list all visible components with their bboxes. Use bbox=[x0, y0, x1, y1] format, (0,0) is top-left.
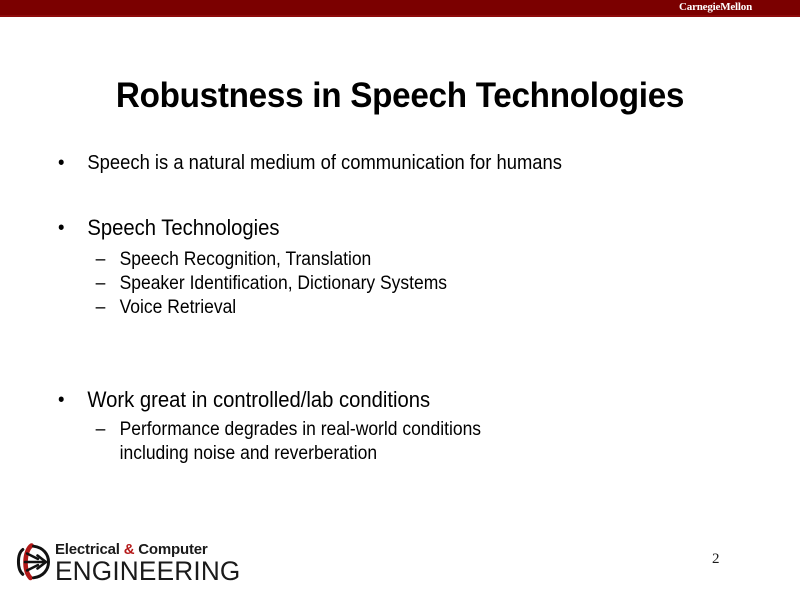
dash-marker-icon: – bbox=[96, 272, 106, 296]
dash-marker-icon: – bbox=[96, 248, 106, 272]
sub-bullet-item-4: – Performance degrades in real-world con… bbox=[0, 418, 736, 466]
bullet-item-2: • Speech Technologies bbox=[0, 214, 736, 242]
bullet-text: Work great in controlled/lab conditions bbox=[87, 387, 430, 412]
bullet-marker-icon: • bbox=[58, 214, 64, 242]
bullet-item-3: • Work great in controlled/lab condition… bbox=[0, 386, 736, 414]
sub-bullet-item-3: – Voice Retrieval bbox=[0, 296, 736, 320]
sub-bullet-text: Speech Recognition, Translation bbox=[120, 249, 372, 270]
ece-logo-text: Electrical & Computer ENGINEERING bbox=[55, 542, 235, 585]
sub-bullet-text-line2: including noise and reverberation bbox=[120, 442, 736, 466]
page-number: 2 bbox=[712, 550, 720, 568]
bullet-marker-icon: • bbox=[58, 386, 64, 414]
bullet-marker-icon: • bbox=[58, 150, 64, 176]
dash-marker-icon: – bbox=[96, 418, 106, 442]
sub-bullet-text: Speaker Identification, Dictionary Syste… bbox=[120, 273, 447, 294]
spacer bbox=[0, 320, 800, 386]
top-brand-bar-underline bbox=[0, 15, 800, 17]
bullet-item-1: • Speech is a natural medium of communic… bbox=[0, 150, 736, 176]
ece-logo-line2: ENGINEERING bbox=[55, 558, 230, 585]
slide-body: • Speech is a natural medium of communic… bbox=[0, 150, 800, 466]
slide: CarnegieMellon Robustness in Speech Tech… bbox=[0, 0, 800, 599]
sub-bullet-item-1: – Speech Recognition, Translation bbox=[0, 248, 736, 272]
spacer bbox=[0, 176, 800, 214]
carnegie-mellon-wordmark: CarnegieMellon bbox=[679, 0, 752, 15]
bullet-text: Speech Technologies bbox=[87, 215, 279, 240]
ece-logo: Electrical & Computer ENGINEERING bbox=[13, 540, 233, 586]
sub-bullet-item-2: – Speaker Identification, Dictionary Sys… bbox=[0, 272, 736, 296]
ece-emblem-icon bbox=[13, 542, 53, 582]
dash-marker-icon: – bbox=[96, 296, 106, 320]
bullet-text: Speech is a natural medium of communicat… bbox=[87, 152, 562, 174]
page-title: Robustness in Speech Technologies bbox=[20, 76, 780, 116]
sub-bullet-text-line1: Performance degrades in real-world condi… bbox=[120, 418, 736, 442]
sub-bullet-text: Voice Retrieval bbox=[120, 297, 237, 318]
